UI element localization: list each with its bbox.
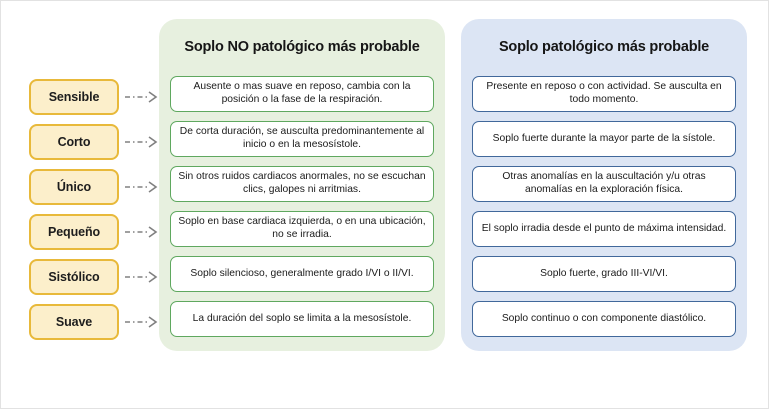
- list-item: Ausente o mas suave en reposo, cambia co…: [170, 76, 434, 112]
- dashed-arrow-right-icon: [123, 270, 163, 284]
- list-item: Sin otros ruidos cardiacos anormales, no…: [170, 166, 434, 202]
- feature-chip-unico[interactable]: Único: [29, 169, 119, 205]
- panel-non-pathologic-list: Ausente o mas suave en reposo, cambia co…: [170, 76, 434, 346]
- feature-chip-label: Sensible: [49, 90, 100, 104]
- feature-chip-corto[interactable]: Corto: [29, 124, 119, 160]
- dashed-arrow-right-icon: [123, 135, 163, 149]
- feature-chip-sensible[interactable]: Sensible: [29, 79, 119, 115]
- feature-chip-label: Pequeño: [48, 225, 100, 239]
- feature-row: Sistólico: [29, 259, 119, 295]
- panel-non-pathologic: Soplo NO patológico más probable Ausente…: [159, 19, 445, 351]
- panel-pathologic-list: Presente en reposo o con actividad. Se a…: [472, 76, 736, 346]
- feature-chip-sistolico[interactable]: Sistólico: [29, 259, 119, 295]
- list-item: Soplo silencioso, generalmente grado I/V…: [170, 256, 434, 292]
- feature-chip-label: Corto: [58, 135, 91, 149]
- panel-pathologic-title: Soplo patológico más probable: [461, 19, 747, 75]
- list-item: Otras anomalías en la auscultación y/u o…: [472, 166, 736, 202]
- feature-row: Único: [29, 169, 119, 205]
- feature-row: Pequeño: [29, 214, 119, 250]
- list-item: Soplo en base cardiaca izquierda, o en u…: [170, 211, 434, 247]
- dashed-arrow-right-icon: [123, 90, 163, 104]
- list-item: La duración del soplo se limita a la mes…: [170, 301, 434, 337]
- feature-chip-suave[interactable]: Suave: [29, 304, 119, 340]
- panel-pathologic: Soplo patológico más probable Presente e…: [461, 19, 747, 351]
- dashed-arrow-right-icon: [123, 225, 163, 239]
- panel-non-pathologic-title: Soplo NO patológico más probable: [159, 19, 445, 75]
- list-item: Presente en reposo o con actividad. Se a…: [472, 76, 736, 112]
- feature-row: Corto: [29, 124, 119, 160]
- dashed-arrow-right-icon: [123, 180, 163, 194]
- list-item: Soplo continuo o con componente diastóli…: [472, 301, 736, 337]
- feature-chip-label: Único: [57, 180, 91, 194]
- list-item: De corta duración, se ausculta predomina…: [170, 121, 434, 157]
- feature-row: Suave: [29, 304, 119, 340]
- feature-chip-label: Suave: [56, 315, 92, 329]
- feature-chip-pequeno[interactable]: Pequeño: [29, 214, 119, 250]
- feature-column: Sensible Corto Único: [29, 79, 119, 349]
- feature-row: Sensible: [29, 79, 119, 115]
- list-item: Soplo fuerte, grado III-VI/VI.: [472, 256, 736, 292]
- list-item: Soplo fuerte durante la mayor parte de l…: [472, 121, 736, 157]
- feature-chip-label: Sistólico: [48, 270, 99, 284]
- diagram-canvas: Sensible Corto Único: [0, 0, 769, 409]
- dashed-arrow-right-icon: [123, 315, 163, 329]
- list-item: El soplo irradia desde el punto de máxim…: [472, 211, 736, 247]
